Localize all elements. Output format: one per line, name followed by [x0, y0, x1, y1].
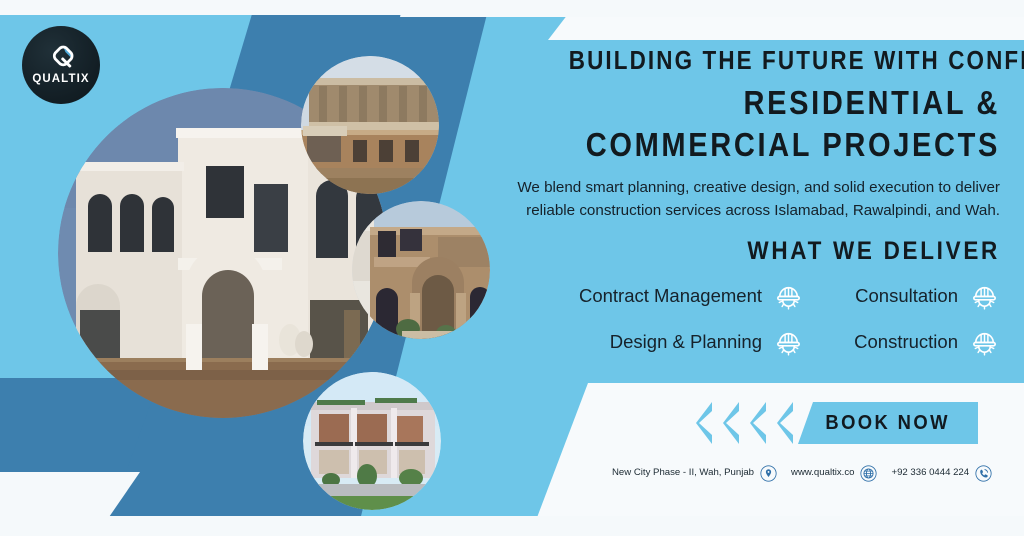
- contact-phone[interactable]: +92 336 0444 224: [891, 467, 969, 479]
- chevron-left-icon: [717, 402, 739, 444]
- service-item-design-planning[interactable]: Design & Planning: [552, 326, 804, 357]
- hard-hat-gear-icon: [773, 280, 804, 311]
- location-pin-icon[interactable]: [760, 465, 777, 482]
- contact-address: New City Phase - II, Wah, Punjab: [612, 467, 754, 479]
- content-column: BUILDING THE FUTURE WITH CONFIDENCE RESI…: [510, 46, 1000, 372]
- promotional-banner: QUALTIX BUILDING THE FUTURE WITH CONFIDE…: [0, 0, 1024, 536]
- services-list: Contract Management Consultation: [510, 280, 1000, 357]
- services-row-1: Contract Management Consultation: [510, 280, 1000, 311]
- headline-line-3: COMMERCIAL PROJECTS: [569, 124, 1000, 166]
- phone-icon[interactable]: [975, 465, 992, 482]
- hard-hat-gear-icon: [969, 280, 1000, 311]
- service-item-contract-management[interactable]: Contract Management: [552, 280, 804, 311]
- hard-hat-gear-icon: [969, 326, 1000, 357]
- photo-brick-building-under-construction: [301, 56, 439, 194]
- service-label: Design & Planning: [610, 331, 762, 353]
- chevron-left-icon: [690, 402, 712, 444]
- service-item-consultation[interactable]: Consultation: [804, 280, 1000, 311]
- photo-sandstone-house-exterior: [352, 201, 490, 339]
- hard-hat-gear-icon: [773, 326, 804, 357]
- service-label: Construction: [854, 331, 958, 353]
- chevron-left-icon: [771, 402, 793, 444]
- services-row-2: Design & Planning Construction: [510, 326, 1000, 357]
- chevron-left-icon: [744, 402, 766, 444]
- book-now-label: BOOK NOW: [826, 412, 950, 435]
- what-we-deliver-title: WHAT WE DELIVER: [559, 237, 1000, 266]
- book-now-button[interactable]: BOOK NOW: [798, 402, 978, 444]
- headline-line-2: RESIDENTIAL &: [569, 82, 1000, 124]
- qualtix-q-monogram-icon: [46, 45, 76, 73]
- book-now-cta[interactable]: BOOK NOW: [690, 402, 978, 444]
- globe-icon[interactable]: [860, 465, 877, 482]
- brand-logo[interactable]: QUALTIX: [22, 26, 100, 104]
- contact-bar: New City Phase - II, Wah, Punjab www.qua…: [612, 462, 992, 484]
- subcopy-paragraph: We blend smart planning, creative design…: [510, 177, 1000, 222]
- photo-modern-townhouse-render: [303, 372, 441, 510]
- service-label: Consultation: [855, 285, 958, 307]
- service-label: Contract Management: [579, 285, 762, 307]
- service-item-construction[interactable]: Construction: [804, 326, 1000, 357]
- headline-line-1: BUILDING THE FUTURE WITH CONFIDENCE: [569, 46, 1000, 76]
- brand-name: QUALTIX: [32, 74, 89, 86]
- contact-website[interactable]: www.qualtix.co: [791, 467, 854, 479]
